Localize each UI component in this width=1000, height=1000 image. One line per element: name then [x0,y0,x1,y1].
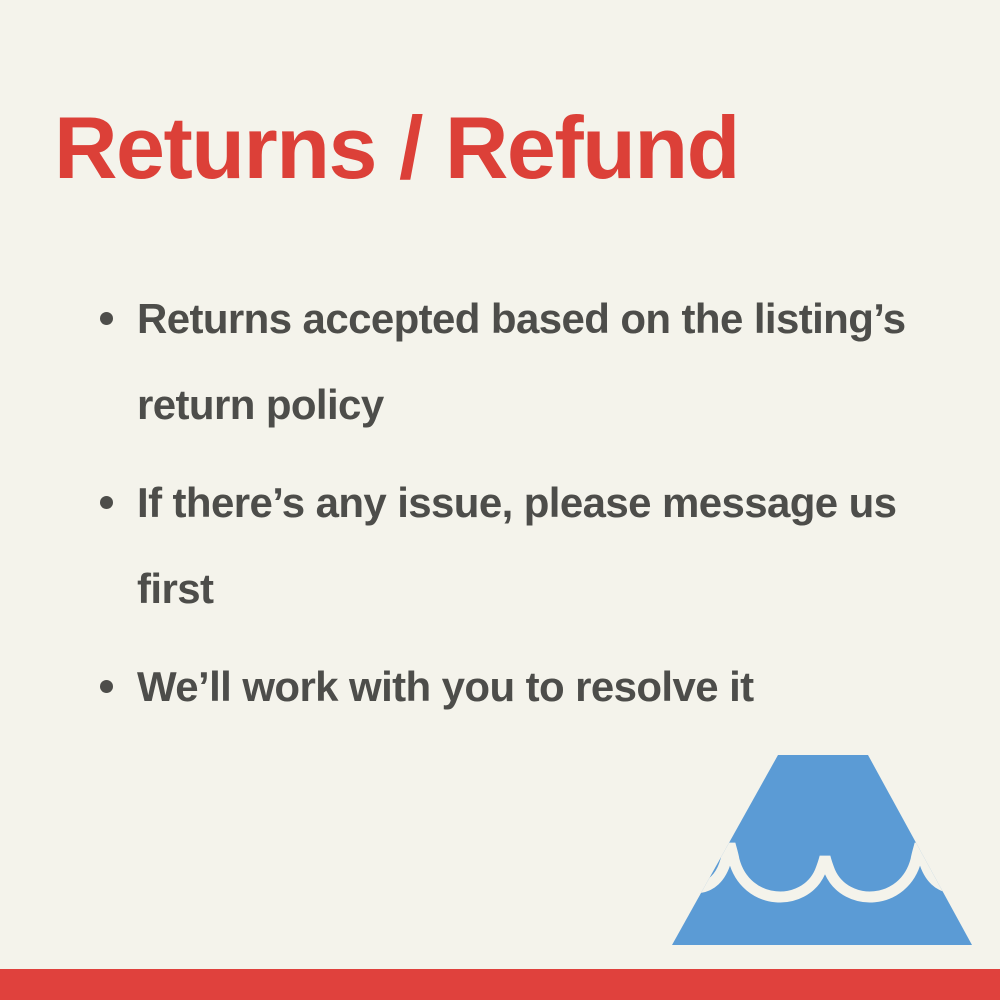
mountain-wave-logo-icon [664,748,980,953]
page-title: Returns / Refund [54,104,934,192]
bottom-accent-bar [0,969,1000,1000]
list-item-label: If there’s any issue, please message us … [137,460,952,632]
bullet-dot-icon [100,312,113,325]
list-item: If there’s any issue, please message us … [92,460,952,632]
list-item-label: Returns accepted based on the listing’s … [137,276,952,448]
bullet-dot-icon [100,680,113,693]
slide-canvas: Returns / Refund Returns accepted based … [0,0,1000,1000]
bullet-dot-icon [100,496,113,509]
list-item: Returns accepted based on the listing’s … [92,276,952,448]
list-item: We’ll work with you to resolve it [92,644,952,730]
list-item-label: We’ll work with you to resolve it [137,644,952,730]
bullet-list: Returns accepted based on the listing’s … [92,276,952,730]
logo-trapezoid-shape [672,755,972,945]
